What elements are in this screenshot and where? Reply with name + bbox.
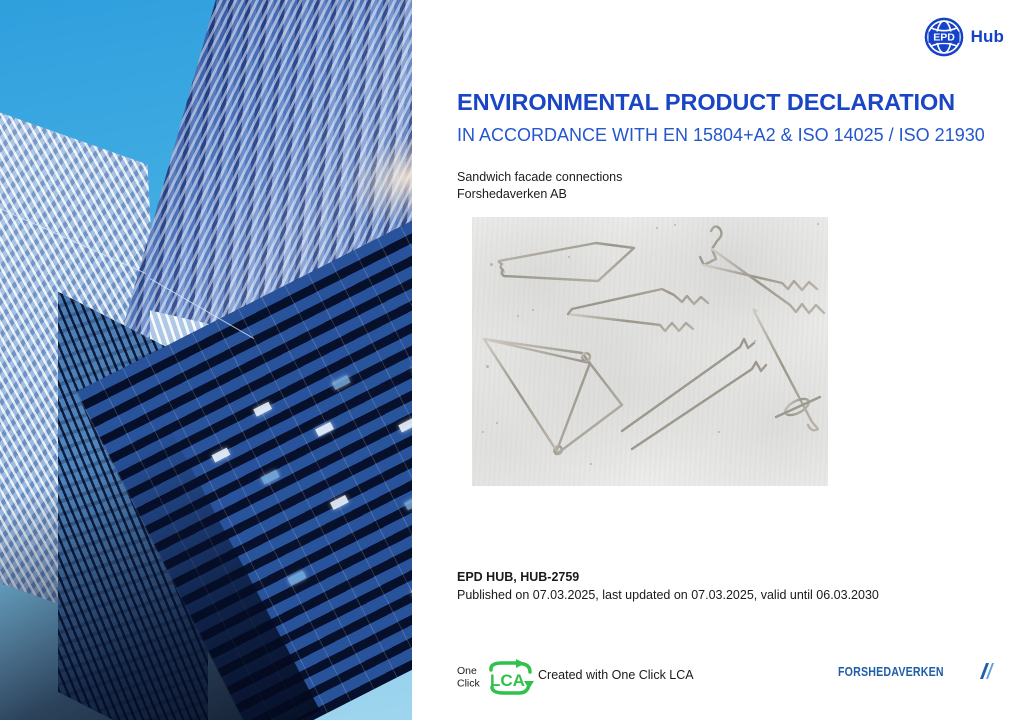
product-identification: Sandwich facade connections Forshedaverk… (457, 169, 622, 203)
epd-reference: EPD HUB, HUB-2759 (457, 568, 879, 586)
epd-cover-page: EPD Hub ENVIRONMENTAL PRODUCT DECLARATIO… (0, 0, 1018, 720)
forshedaverken-name: FORSHEDAVERKEN (838, 664, 944, 679)
one-click-lca-logo: One Click LCA (456, 659, 536, 695)
sun-glint (344, 118, 412, 236)
wire-tie-3 (484, 339, 622, 454)
lca-mark: LCA (490, 671, 525, 690)
manufacturer-name: Forshedaverken AB (457, 186, 622, 203)
created-with-label: Created with One Click LCA (538, 668, 694, 682)
one-click-line2: Click (457, 678, 480, 690)
page-subtitle: IN ACCORDANCE WITH EN 15804+A2 & ISO 140… (457, 125, 985, 146)
content-panel: EPD Hub ENVIRONMENTAL PRODUCT DECLARATIO… (412, 0, 1018, 720)
wire-tie-1 (499, 243, 634, 281)
forshedaverken-logo: FORSHEDAVERKEN (838, 662, 994, 680)
epd-hub-logo: EPD Hub (923, 16, 1004, 58)
epd-hub-word: Hub (971, 27, 1004, 47)
globe-icon: EPD (923, 16, 965, 58)
epd-identification-block: EPD HUB, HUB-2759 Published on 07.03.202… (457, 568, 879, 604)
footer: One Click LCA Created with One Click LCA… (412, 655, 1018, 705)
recycle-arrow-head (516, 659, 525, 668)
product-photo (472, 217, 828, 486)
product-name: Sandwich facade connections (457, 169, 622, 186)
wire-tie-products (472, 217, 828, 486)
hero-architecture-photo (0, 0, 412, 720)
forshedaverken-slash-icon (972, 662, 994, 680)
epd-globe-text: EPD (933, 31, 955, 43)
one-click-line1: One (457, 665, 477, 677)
epd-dates: Published on 07.03.2025, last updated on… (457, 586, 879, 604)
recycle-arrow-head-2 (524, 681, 534, 689)
page-title: ENVIRONMENTAL PRODUCT DECLARATION (457, 89, 955, 116)
